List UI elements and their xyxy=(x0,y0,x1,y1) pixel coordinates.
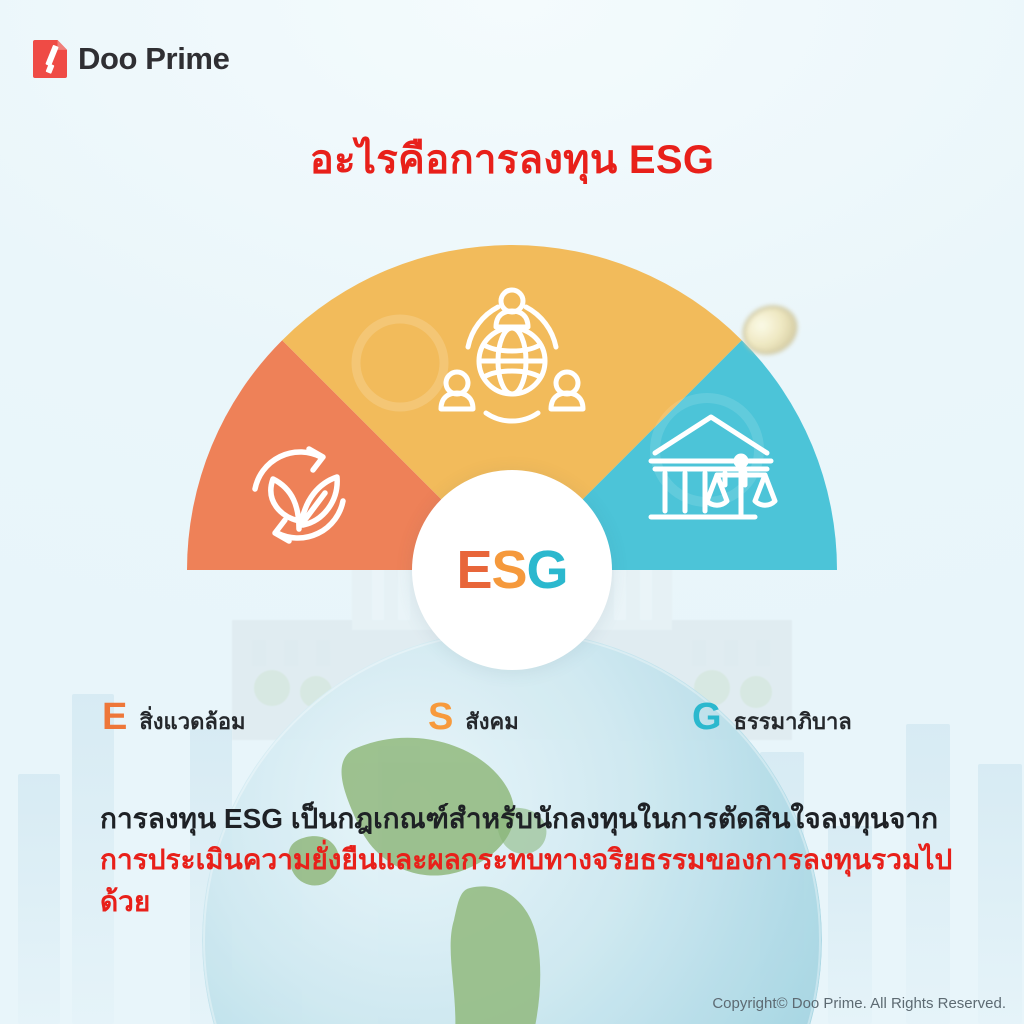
esg-letter-e: E xyxy=(456,540,491,600)
legend-item-environmental: E สิ่งแวดล้อม xyxy=(102,698,246,736)
esg-legend: E สิ่งแวดล้อม S สังคม G ธรรมาภิบาล xyxy=(102,698,932,744)
legend-item-social: S สังคม xyxy=(428,698,519,736)
esg-letter-g: G xyxy=(527,540,568,600)
body-paragraph: การลงทุน ESG เป็นกฎเกณฑ์สำหรับนักลงทุนใน… xyxy=(100,798,960,922)
legend-label-environmental: สิ่งแวดล้อม xyxy=(139,711,245,733)
legend-letter-s: S xyxy=(428,698,453,736)
legend-label-governance: ธรรมาภิบาล xyxy=(734,711,852,733)
esg-letter-s: S xyxy=(491,540,526,600)
page-title: อะไรคือการลงทุน ESG xyxy=(0,136,1024,184)
brand-logo[interactable]: Doo Prime xyxy=(33,40,229,78)
legend-letter-e: E xyxy=(102,698,127,736)
legend-letter-g: G xyxy=(692,698,722,736)
doo-prime-mark-icon xyxy=(33,40,67,78)
body-text-highlight: การประเมินความยั่งยืนและผลกระทบทางจริยธร… xyxy=(100,844,952,916)
esg-center-badge: ESG xyxy=(412,470,612,670)
brand-name: Doo Prime xyxy=(78,41,229,77)
body-text-plain: การลงทุน ESG เป็นกฎเกณฑ์สำหรับนักลงทุนใน… xyxy=(100,803,938,834)
infographic-canvas: Doo Prime อะไรคือการลงทุน ESG xyxy=(0,0,1024,1024)
legend-label-social: สังคม xyxy=(465,711,518,733)
legend-item-governance: G ธรรมาภิบาล xyxy=(692,698,852,736)
copyright-footer: Copyright© Doo Prime. All Rights Reserve… xyxy=(712,995,1006,1012)
